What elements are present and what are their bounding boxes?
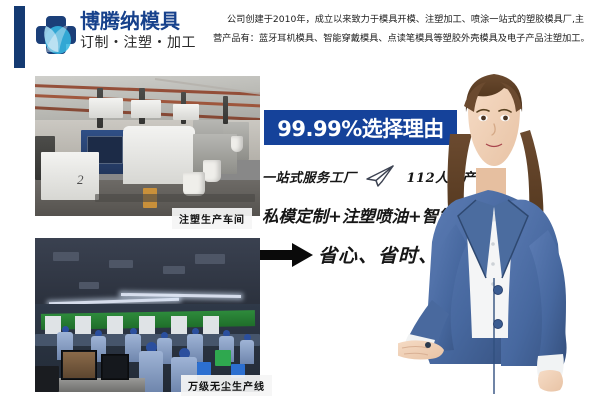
header: 博腾纳模具 订制・注塑・加工 公司创建于2010年，成立以来致力于模具开模、注塑… bbox=[0, 0, 600, 70]
line-equipment bbox=[139, 316, 155, 334]
monitor bbox=[101, 354, 129, 380]
ceiling-vent bbox=[109, 260, 133, 268]
bucket bbox=[203, 160, 221, 182]
blue-stool bbox=[197, 362, 211, 376]
logo-cross-mark bbox=[36, 12, 78, 60]
worker bbox=[240, 334, 254, 364]
line-equipment bbox=[203, 316, 219, 334]
ceiling-vent bbox=[195, 254, 225, 264]
ceiling-vent bbox=[79, 282, 99, 289]
worker-uniform bbox=[240, 340, 254, 364]
one-stop-service-text: 一站式服务工厂 bbox=[262, 167, 357, 186]
paper-plane-icon bbox=[363, 164, 395, 188]
logo-subtitle: 订制・注塑・加工 bbox=[80, 33, 210, 53]
right-arrow-glyph bbox=[260, 242, 314, 268]
equipment-case bbox=[35, 366, 59, 392]
bucket bbox=[231, 136, 243, 152]
logo-accent-bar bbox=[14, 6, 25, 68]
ceiling-vent bbox=[163, 266, 185, 274]
molding-machine-front bbox=[41, 152, 99, 200]
machine-number: 2 bbox=[77, 172, 84, 188]
model-photo-businesswoman bbox=[398, 72, 600, 400]
line-equipment bbox=[171, 316, 187, 334]
right-arrow-icon bbox=[260, 242, 314, 268]
monitor-screen bbox=[103, 356, 127, 378]
green-bin bbox=[215, 350, 231, 366]
logo-title: 博腾纳模具 bbox=[80, 9, 210, 33]
photo-cleanroom-line bbox=[35, 238, 260, 392]
monitor-screen bbox=[63, 352, 95, 378]
company-description-line-2: 营产品有：蓝牙耳机模具、智能穿戴模具、点读笔模具等塑胶外壳模具及电子产品注塑加工… bbox=[213, 29, 595, 48]
machine-hopper bbox=[89, 98, 123, 118]
logo-cross-icon bbox=[36, 12, 78, 60]
line-equipment bbox=[107, 316, 123, 334]
machine-hopper bbox=[131, 100, 161, 118]
logo-text-block: 博腾纳模具 订制・注塑・加工 bbox=[80, 9, 210, 53]
photo-caption-injection-workshop: 注塑生产车间 bbox=[172, 208, 252, 229]
bucket bbox=[183, 172, 205, 196]
company-description-line-1: 公司创建于2010年，成立以来致力于模具开模、注塑加工、喷涂一站式的塑胶模具厂,… bbox=[213, 10, 595, 29]
photo-caption-cleanroom-line: 万级无尘生产线 bbox=[181, 375, 272, 396]
machine-column bbox=[223, 96, 228, 124]
company-description: 公司创建于2010年，成立以来致力于模具开模、注塑加工、喷涂一站式的塑胶模具厂,… bbox=[213, 10, 595, 48]
paper-plane-glyph bbox=[363, 164, 395, 188]
photo-injection-workshop: 2 bbox=[35, 76, 260, 216]
machine-hopper bbox=[173, 104, 199, 120]
floor-shadow bbox=[95, 194, 255, 202]
businesswoman-illustration bbox=[398, 72, 600, 400]
monitor bbox=[61, 350, 97, 380]
ceiling-vent bbox=[53, 252, 79, 261]
promo-banner-page: 博腾纳模具 订制・注塑・加工 公司创建于2010年，成立以来致力于模具开模、注塑… bbox=[0, 0, 600, 400]
line-equipment bbox=[75, 316, 91, 334]
